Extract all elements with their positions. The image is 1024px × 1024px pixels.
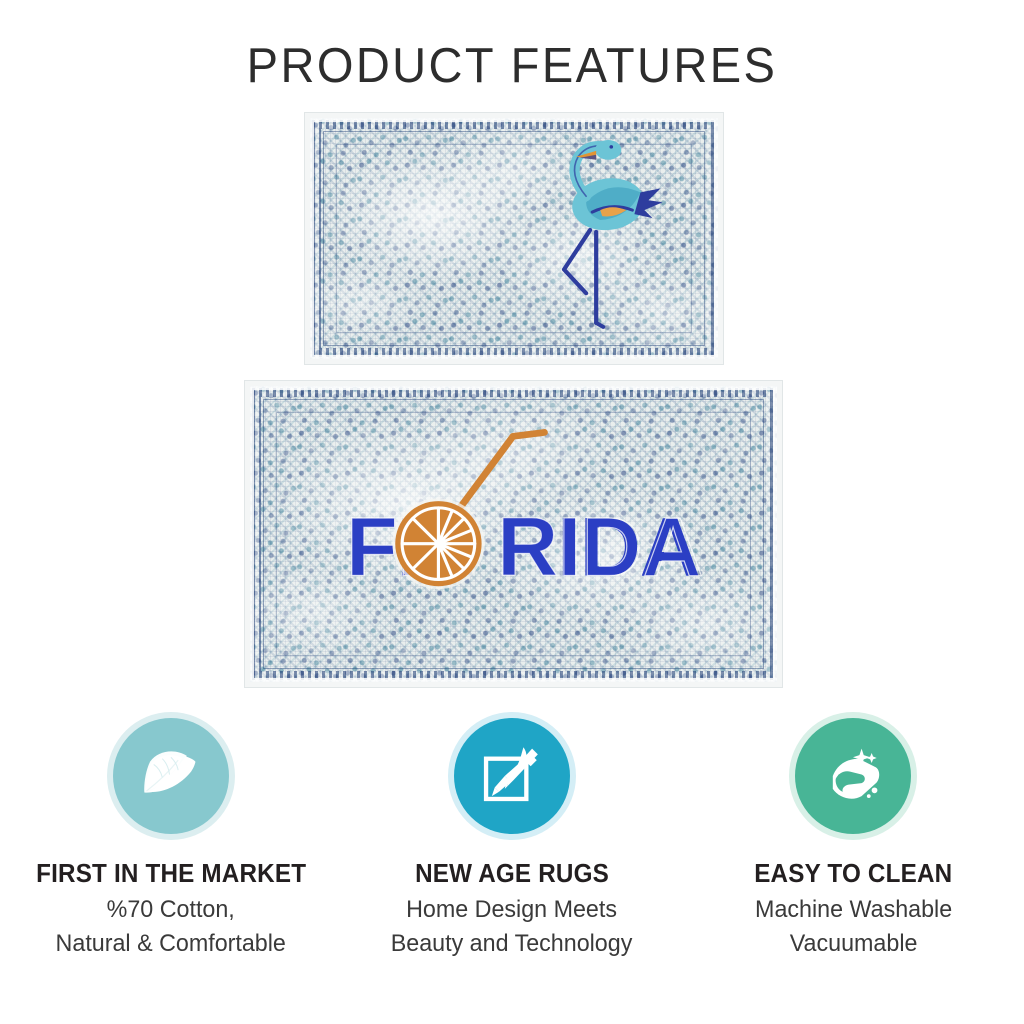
feature-icon-badge bbox=[448, 712, 576, 840]
feature-subtitle-line: %70 Cotton, bbox=[55, 893, 285, 927]
page-title: PRODUCT FEATURES bbox=[20, 38, 1003, 94]
feature-icon-badge bbox=[789, 712, 917, 840]
product-features-page: PRODUCT FEATURES bbox=[0, 0, 1024, 1024]
rug-fringe-edge bbox=[310, 118, 718, 359]
icon-disc bbox=[113, 718, 229, 834]
product-image-florida-rug: FL RIDA FL RIDA bbox=[245, 381, 782, 687]
design-pen-square-icon bbox=[476, 740, 548, 812]
hand-wipe-clean-icon bbox=[817, 740, 889, 812]
feature-item-new-age-rugs: NEW AGE RUGS Home Design Meets Beauty an… bbox=[341, 712, 682, 1012]
feature-icon-badge bbox=[107, 712, 235, 840]
feature-title: EASY TO CLEAN bbox=[754, 860, 952, 889]
feature-subtitle: %70 Cotton, Natural & Comfortable bbox=[55, 893, 285, 961]
feature-item-first-in-the-market: FIRST IN THE MARKET %70 Cotton, Natural … bbox=[0, 712, 341, 1012]
feature-subtitle: Machine Washable Vacuumable bbox=[755, 893, 952, 961]
icon-disc bbox=[454, 718, 570, 834]
product-image-flamingo-rug bbox=[305, 113, 723, 364]
feature-item-easy-to-clean: EASY TO CLEAN Machine Washable Vacuumabl… bbox=[683, 712, 1024, 1012]
rug-fringe-edge bbox=[250, 386, 777, 682]
feature-title: NEW AGE RUGS bbox=[415, 860, 609, 889]
feature-subtitle-line: Vacuumable bbox=[755, 927, 952, 961]
feather-icon bbox=[135, 740, 207, 812]
icon-disc bbox=[795, 718, 911, 834]
feature-title: FIRST IN THE MARKET bbox=[36, 860, 306, 889]
feature-subtitle-line: Natural & Comfortable bbox=[55, 927, 285, 961]
feature-subtitle-line: Beauty and Technology bbox=[391, 927, 633, 961]
feature-list: FIRST IN THE MARKET %70 Cotton, Natural … bbox=[0, 712, 1024, 1012]
feature-subtitle-line: Machine Washable bbox=[755, 893, 952, 927]
feature-subtitle-line: Home Design Meets bbox=[391, 893, 633, 927]
feature-subtitle: Home Design Meets Beauty and Technology bbox=[391, 893, 633, 961]
